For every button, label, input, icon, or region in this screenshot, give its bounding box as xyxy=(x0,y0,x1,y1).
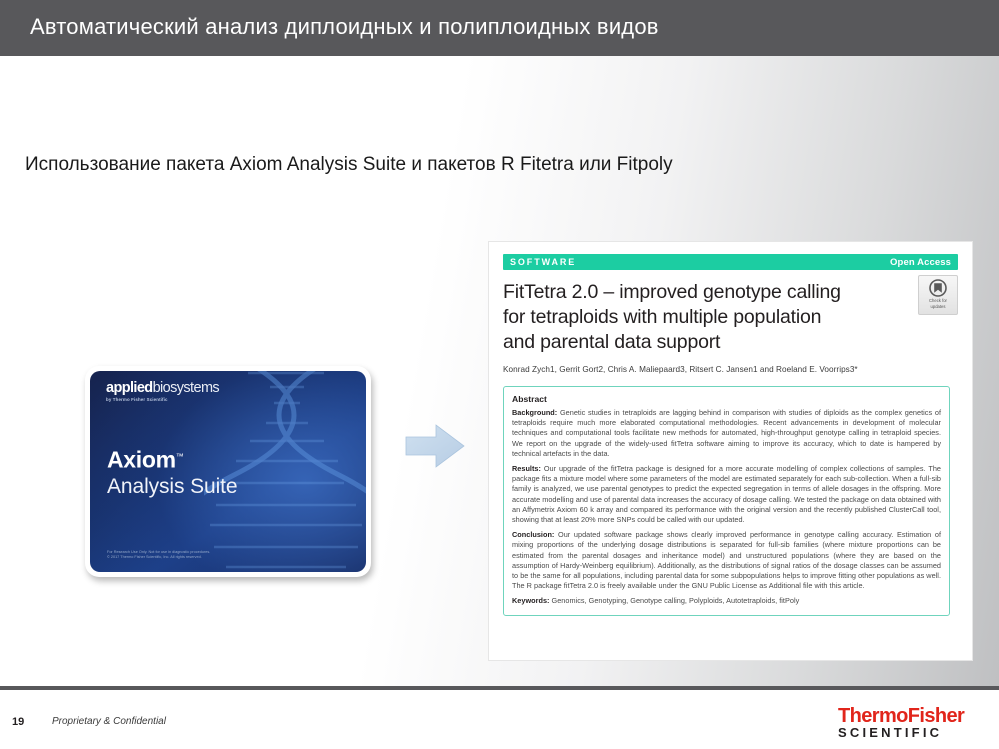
axiom-product-title: Axiom™ Analysis Suite xyxy=(107,444,238,499)
thermo-fisher-wordmark: ThermoFisher xyxy=(838,707,964,726)
paper-authors: Konrad Zych1, Gerrit Gort2, Chris A. Mal… xyxy=(503,364,958,375)
abstract-text-keywords: Genomics, Genotyping, Genotype calling, … xyxy=(549,596,799,605)
slide-content: Использование пакета Axiom Analysis Suit… xyxy=(0,56,999,688)
confidentiality-notice: Proprietary & Confidential xyxy=(52,716,166,727)
abstract-label-keywords: Keywords: xyxy=(512,596,549,605)
axiom-product-subtitle: Analysis Suite xyxy=(107,475,238,499)
abstract-text-conclusion: Our updated software package shows clear… xyxy=(512,530,941,590)
trademark-symbol: ™ xyxy=(176,452,184,461)
abstract-label-results: Results: xyxy=(512,464,541,473)
right-arrow-icon xyxy=(404,422,466,470)
paper-title: FitTetra 2.0 – improved genotype calling… xyxy=(503,280,853,355)
crossmark-label-line-2: updates xyxy=(919,304,957,309)
scientific-wordmark: SCIENTIFIC xyxy=(838,726,964,740)
applied-biosystems-byline: by Thermo Fisher Scientific xyxy=(106,397,219,403)
crossmark-check-for-updates-icon: Check for updates xyxy=(918,275,958,315)
abstract-paragraph-conclusion: Conclusion: Our updated software package… xyxy=(512,530,941,591)
abstract-paragraph-results: Results: Our upgrade of the fitTetra pac… xyxy=(512,464,941,525)
crossmark-glyph xyxy=(929,279,947,297)
paper-open-access-label: Open Access xyxy=(890,257,951,268)
abstract-label-background: Background: xyxy=(512,408,557,417)
abstract-text-results: Our upgrade of the fitTetra package is d… xyxy=(512,464,941,524)
axiom-analysis-suite-splash: appliedbiosystems by Thermo Fisher Scien… xyxy=(85,366,371,577)
paper-content: SOFTWARE Open Access FitTetra 2.0 – impr… xyxy=(489,242,972,660)
footer-divider xyxy=(0,686,999,690)
slide-page-number: 19 xyxy=(12,716,24,728)
abstract-label-conclusion: Conclusion: xyxy=(512,530,554,539)
fineprint-line-2: © 2017 Thermo Fisher Scientific, Inc. Al… xyxy=(107,555,210,561)
abstract-heading: Abstract xyxy=(512,394,941,404)
paper-software-bar: SOFTWARE Open Access xyxy=(503,254,958,270)
crossmark-label-line-1: Check for xyxy=(919,298,957,303)
abstract-paragraph-keywords: Keywords: Genomics, Genotyping, Genotype… xyxy=(512,596,941,606)
axiom-product-name: Axiom™ xyxy=(107,444,238,473)
slide-header-bar: Автоматический анализ диплоидных и полип… xyxy=(0,0,999,56)
axiom-name-text: Axiom xyxy=(107,447,176,473)
paper-authors-text: Konrad Zych1, Gerrit Gort2, Chris A. Mal… xyxy=(503,365,858,374)
axiom-legal-fineprint: For Research Use Only. Not for use in di… xyxy=(107,550,210,561)
paper-section-label: SOFTWARE xyxy=(510,257,576,267)
brand-bold: applied xyxy=(106,380,153,396)
paper-abstract-box: Abstract Background: Genetic studies in … xyxy=(503,386,950,616)
applied-biosystems-wordmark: appliedbiosystems xyxy=(106,381,219,396)
axiom-splash-inner: appliedbiosystems by Thermo Fisher Scien… xyxy=(90,371,366,572)
slide: Автоматический анализ диплоидных и полип… xyxy=(0,0,999,749)
page-title: Автоматический анализ диплоидных и полип… xyxy=(30,14,659,40)
thermo-fisher-scientific-logo: ThermoFisher SCIENTIFIC xyxy=(838,707,964,740)
abstract-text-background: Genetic studies in tetraploids are laggi… xyxy=(512,408,941,458)
applied-biosystems-logo: appliedbiosystems by Thermo Fisher Scien… xyxy=(106,381,219,403)
brand-thin: biosystems xyxy=(153,380,220,396)
slide-subtitle: Использование пакета Axiom Analysis Suit… xyxy=(25,154,673,176)
abstract-paragraph-background: Background: Genetic studies in tetraploi… xyxy=(512,408,941,459)
fittetra-paper-screenshot: SOFTWARE Open Access FitTetra 2.0 – impr… xyxy=(489,242,972,660)
